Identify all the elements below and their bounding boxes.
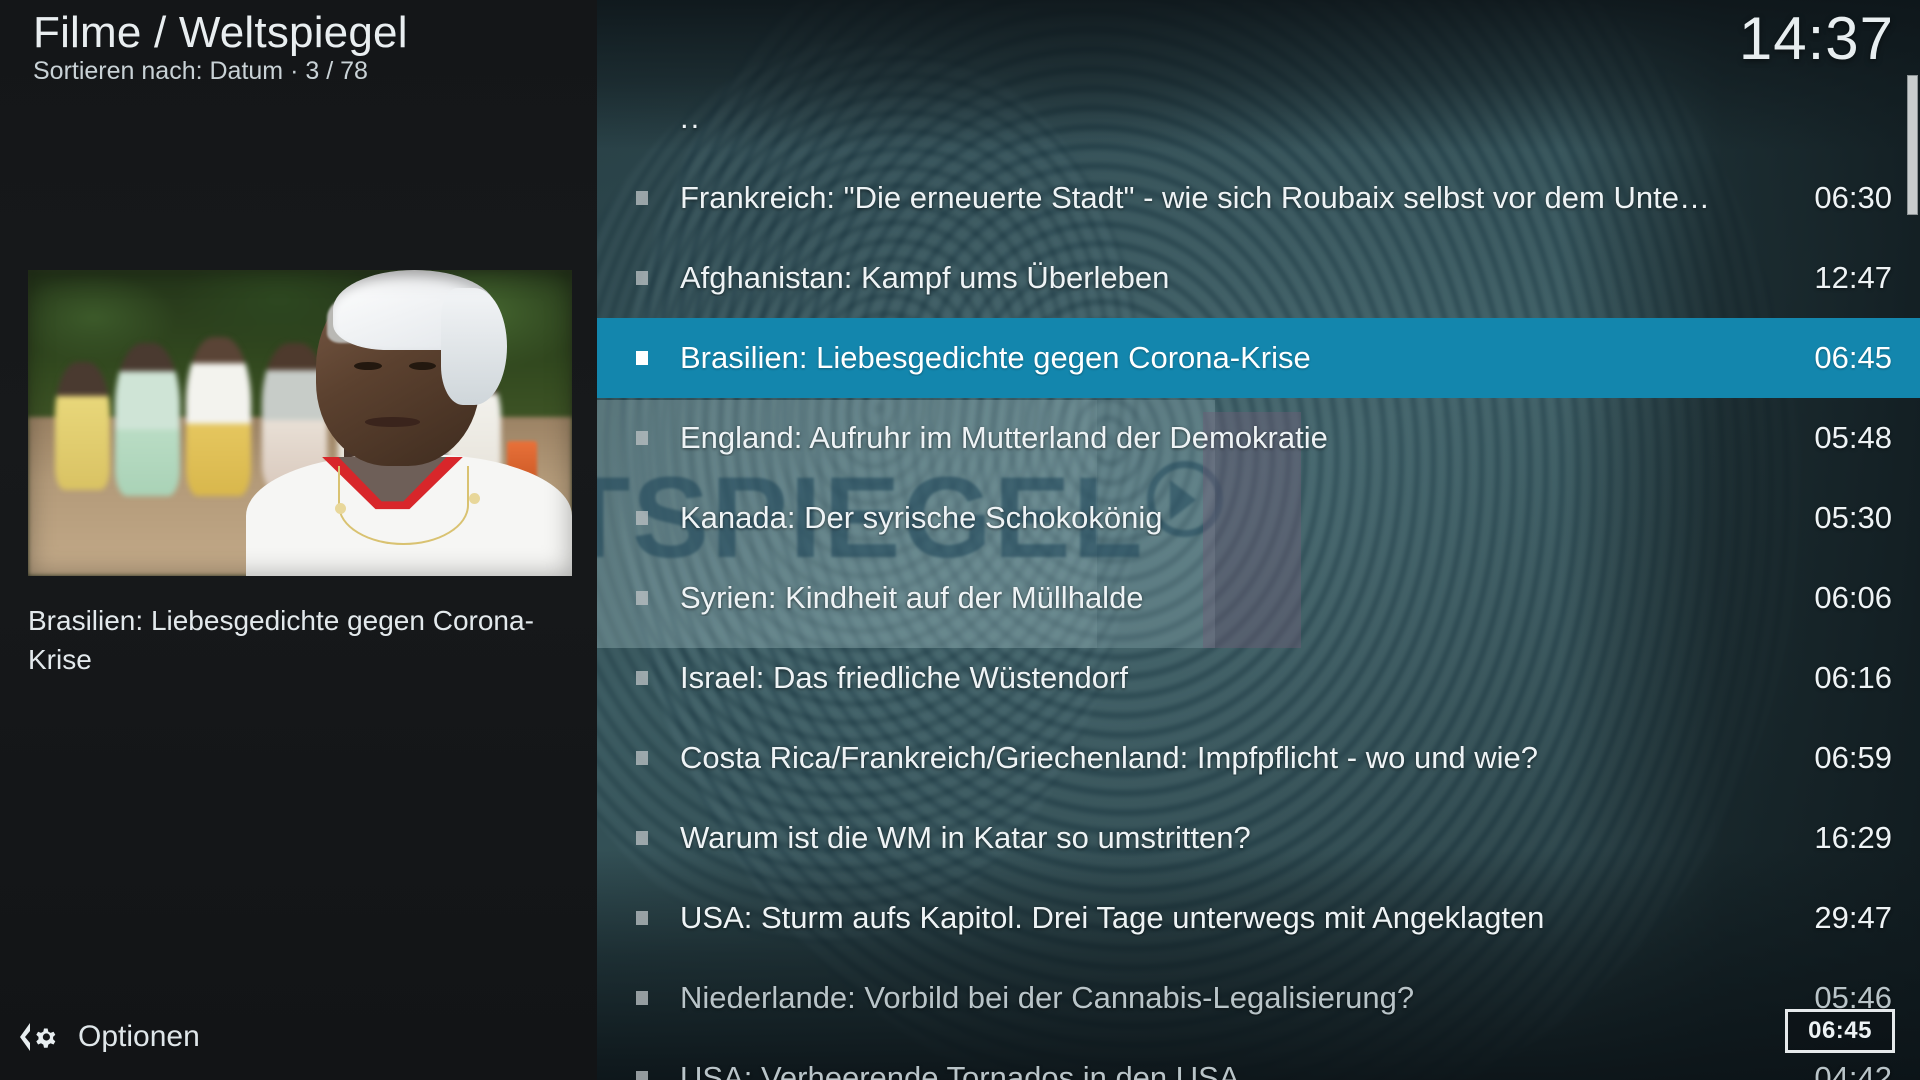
list-item[interactable]: Afghanistan: Kampf ums Überleben12:47 — [597, 238, 1920, 318]
list-item[interactable]: England: Aufruhr im Mutterland der Demok… — [597, 398, 1920, 478]
list-item-duration: 06:06 — [1722, 580, 1892, 616]
list-item[interactable]: USA: Verheerende Tornados in den USA04:4… — [597, 1038, 1920, 1080]
thumbnail — [28, 270, 572, 576]
list-item-duration: 06:16 — [1722, 660, 1892, 696]
media-list[interactable]: ..Frankreich: "Die erneuerte Stadt" - wi… — [597, 0, 1920, 1080]
list-item[interactable]: Syrien: Kindheit auf der Müllhalde06:06 — [597, 558, 1920, 638]
list-item-duration: 16:29 — [1722, 820, 1892, 856]
list-item-label: Israel: Das friedliche Wüstendorf — [680, 660, 1720, 696]
list-item[interactable]: Costa Rica/Frankreich/Griechenland: Impf… — [597, 718, 1920, 798]
list-item-bullet-icon — [636, 831, 648, 845]
list-scrollbar[interactable] — [1908, 0, 1920, 1080]
list-item-bullet-icon — [636, 431, 648, 445]
kodi-screen: TSPIEGEL 14:37 ..Frankreich: "Die erneue… — [0, 0, 1920, 1080]
list-item-label: USA: Verheerende Tornados in den USA — [680, 1060, 1720, 1080]
list-item-bullet-icon — [636, 271, 648, 285]
list-item[interactable]: Israel: Das friedliche Wüstendorf06:16 — [597, 638, 1920, 718]
list-item-bullet-icon — [636, 671, 648, 685]
list-scrollbar-thumb[interactable] — [1907, 75, 1918, 215]
list-item-bullet-icon — [636, 511, 648, 525]
settings-gear-icon — [14, 1017, 58, 1057]
page-title: Filme / Weltspiegel — [33, 8, 408, 58]
list-item-selected[interactable]: Brasilien: Liebesgedichte gegen Corona-K… — [597, 318, 1920, 398]
list-item[interactable]: Niederlande: Vorbild bei der Cannabis-Le… — [597, 958, 1920, 1038]
list-item-duration: 05:30 — [1722, 500, 1892, 536]
options-label: Optionen — [78, 1020, 200, 1054]
list-item-bullet-icon — [636, 591, 648, 605]
list-item-label: USA: Sturm aufs Kapitol. Drei Tage unter… — [680, 900, 1720, 936]
list-item-duration: 04:42 — [1722, 1060, 1892, 1080]
list-item-label: Warum ist die WM in Katar so umstritten? — [680, 820, 1720, 856]
sidebar: Filme / Weltspiegel Sortieren nach: Datu… — [0, 0, 597, 1080]
list-item-bullet-icon — [636, 1071, 648, 1080]
thumbnail-caption: Brasilien: Liebesgedichte gegen Corona-K… — [28, 602, 538, 679]
list-item-duration: 12:47 — [1722, 260, 1892, 296]
list-item-bullet-icon — [636, 991, 648, 1005]
list-item[interactable]: Warum ist die WM in Katar so umstritten?… — [597, 798, 1920, 878]
list-item-duration: 05:48 — [1722, 420, 1892, 456]
list-item-label: Niederlande: Vorbild bei der Cannabis-Le… — [680, 980, 1720, 1016]
list-item-label: Syrien: Kindheit auf der Müllhalde — [680, 580, 1720, 616]
list-item-label: Frankreich: "Die erneuerte Stadt" - wie … — [680, 180, 1720, 216]
clock: 14:37 — [1739, 4, 1894, 73]
list-item[interactable]: Kanada: Der syrische Schokokönig05:30 — [597, 478, 1920, 558]
list-item[interactable]: Frankreich: "Die erneuerte Stadt" - wie … — [597, 158, 1920, 238]
sort-and-count-label: Sortieren nach: Datum · 3 / 78 — [33, 57, 368, 86]
list-item-duration: 06:59 — [1722, 740, 1892, 776]
list-item-bullet-icon — [636, 191, 648, 205]
list-item-bullet-icon — [636, 751, 648, 765]
list-item-label: Afghanistan: Kampf ums Überleben — [680, 260, 1720, 296]
list-item-duration: 29:47 — [1722, 900, 1892, 936]
list-item[interactable]: .. — [597, 78, 1920, 158]
list-item-label: .. — [680, 100, 1720, 136]
list-item-bullet-icon — [636, 911, 648, 925]
thumbnail-vignette — [28, 270, 572, 576]
list-item-duration: 06:45 — [1722, 340, 1892, 376]
list-item-label: Kanada: Der syrische Schokokönig — [680, 500, 1720, 536]
list-item[interactable]: USA: Sturm aufs Kapitol. Drei Tage unter… — [597, 878, 1920, 958]
list-item-label: Costa Rica/Frankreich/Griechenland: Impf… — [680, 740, 1720, 776]
list-item-label: Brasilien: Liebesgedichte gegen Corona-K… — [680, 340, 1720, 376]
duration-badge: 06:45 — [1785, 1009, 1895, 1053]
options-button[interactable]: Optionen — [0, 994, 597, 1080]
list-item-bullet-icon — [636, 351, 648, 365]
list-item-label: England: Aufruhr im Mutterland der Demok… — [680, 420, 1720, 456]
list-item-duration: 06:30 — [1722, 180, 1892, 216]
